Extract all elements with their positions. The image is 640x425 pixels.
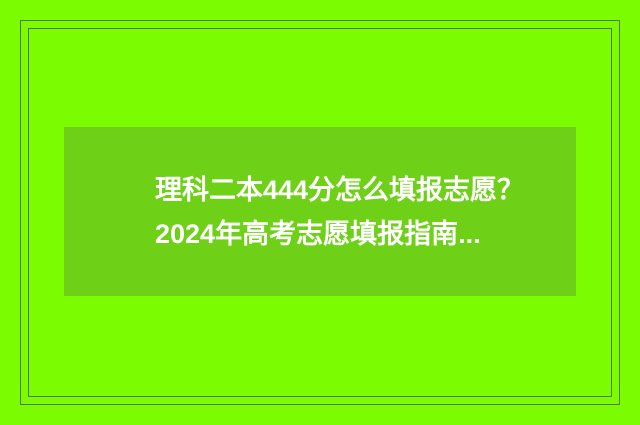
caption-band: 理科二本444分怎么填报志愿？ 2024年高考志愿填报指南... — [64, 127, 576, 296]
caption-line-1: 理科二本444分怎么填报志愿？ — [155, 168, 524, 212]
caption-line-2: 2024年高考志愿填报指南... — [155, 212, 481, 256]
thumbnail-canvas: 理科二本444分怎么填报志愿？ 2024年高考志愿填报指南... — [0, 0, 640, 425]
